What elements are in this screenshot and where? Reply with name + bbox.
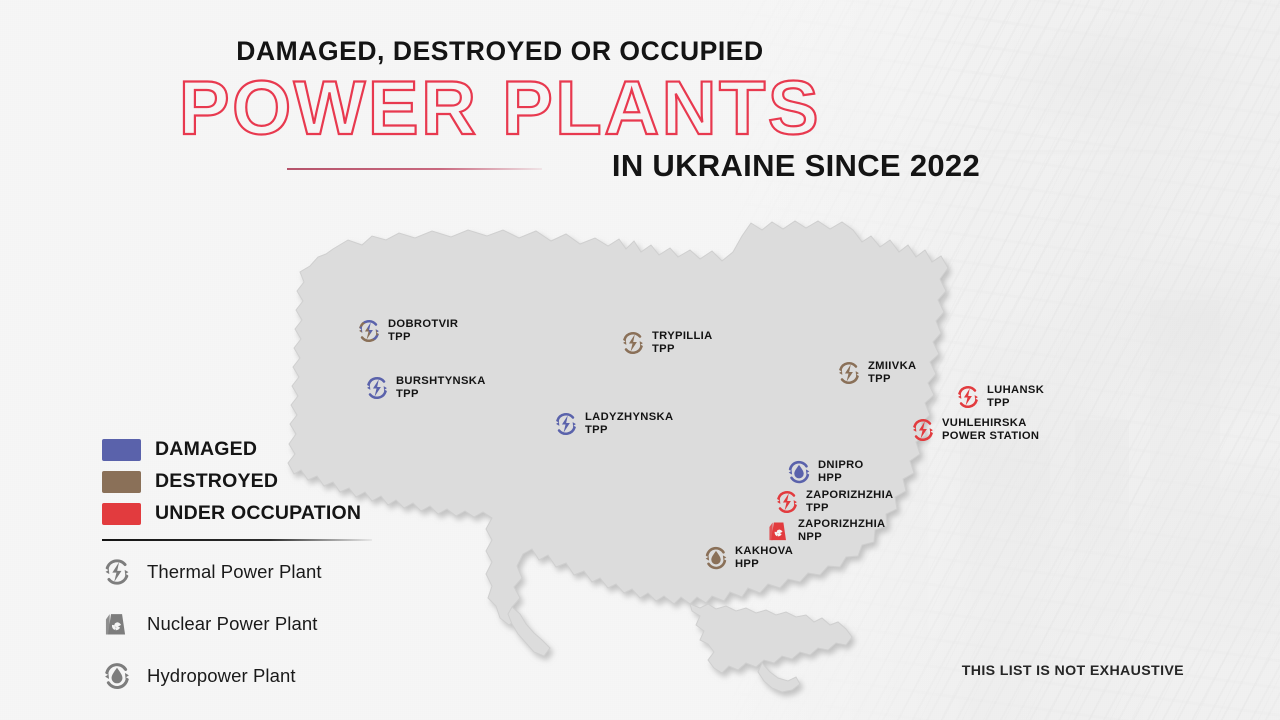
thermal-power-plant-icon [620,330,646,356]
map-marker-zmiivka-tpp[interactable]: ZMIIVKATPP [836,360,916,386]
thermal-power-plant-icon [364,375,390,401]
map-marker-label: KAKHOVAHPP [735,545,793,571]
map-marker-luhansk-tpp[interactable]: LUHANSKTPP [955,384,1044,410]
legend-label-damaged: DAMAGED [155,438,257,461]
map-marker-burshtynska-tpp[interactable]: BURSHTYNSKATPP [364,375,486,401]
map-marker-label: LADYZHYNSKATPP [585,411,673,437]
map-marker-dobrotvir-tpp[interactable]: DOBROTVIRTPP [356,318,458,344]
map-marker-zaporizhzhia-npp[interactable]: ZAPORIZHZHIANPP [766,518,885,544]
nuclear-power-plant-icon [102,609,132,639]
map-marker-label: LUHANSKTPP [987,384,1044,410]
thermal-power-plant-icon [356,318,382,344]
thermal-power-plant-icon [910,417,936,443]
hydropower-plant-icon [786,459,812,485]
hydropower-plant-icon [102,661,132,691]
legend-item-thermal[interactable]: Thermal Power Plant [102,557,402,587]
thermal-power-plant-icon [836,360,862,386]
map-marker-label: VUHLEHIRSKAPOWER STATION [942,417,1039,443]
nuclear-power-plant-icon [766,518,792,544]
map-marker-label: ZMIIVKATPP [868,360,916,386]
map-marker-trypillia-tpp[interactable]: TRYPILLIATPP [620,330,713,356]
legend-item-destroyed[interactable]: DESTROYED [102,470,402,493]
swatch-occupied [102,503,141,525]
swatch-destroyed [102,471,141,493]
footnote-not-exhaustive: THIS LIST IS NOT EXHAUSTIVE [962,663,1184,679]
legend-label-occupied: UNDER OCCUPATION [155,502,361,525]
legend-label-hydro: Hydropower Plant [147,665,296,687]
swatch-damaged [102,439,141,461]
legend-item-occupied[interactable]: UNDER OCCUPATION [102,502,402,525]
legend-item-damaged[interactable]: DAMAGED [102,438,402,461]
map-marker-ladyzhynska-tpp[interactable]: LADYZHYNSKATPP [553,411,673,437]
legend-item-nuclear[interactable]: Nuclear Power Plant [102,609,402,639]
map-marker-label: DOBROTVIRTPP [388,318,458,344]
map-marker-label: TRYPILLIATPP [652,330,713,356]
map-marker-label: ZAPORIZHZHIATPP [806,489,893,515]
map-marker-vuhlehirska-power station[interactable]: VUHLEHIRSKAPOWER STATION [910,417,1039,443]
thermal-power-plant-icon [102,557,132,587]
legend-item-hydro[interactable]: Hydropower Plant [102,661,402,691]
thermal-power-plant-icon [774,489,800,515]
legend-divider [102,539,372,541]
map-marker-label: DNIPROHPP [818,459,864,485]
legend-label-nuclear: Nuclear Power Plant [147,613,318,635]
legend-label-thermal: Thermal Power Plant [147,561,322,583]
infographic-canvas: DAMAGED, DESTROYED OR OCCUPIED POWER PLA… [0,0,1280,720]
map-marker-zaporizhzhia-tpp[interactable]: ZAPORIZHZHIATPP [774,489,893,515]
legend-label-destroyed: DESTROYED [155,470,278,493]
thermal-power-plant-icon [955,384,981,410]
thermal-power-plant-icon [553,411,579,437]
map-marker-kakhova-hpp[interactable]: KAKHOVAHPP [703,545,793,571]
map-marker-label: BURSHTYNSKATPP [396,375,486,401]
hydropower-plant-icon [703,545,729,571]
map-marker-label: ZAPORIZHZHIANPP [798,518,885,544]
legend: DAMAGED DESTROYED UNDER OCCUPATION Therm… [102,438,402,713]
map-marker-dnipro-hpp[interactable]: DNIPROHPP [786,459,864,485]
